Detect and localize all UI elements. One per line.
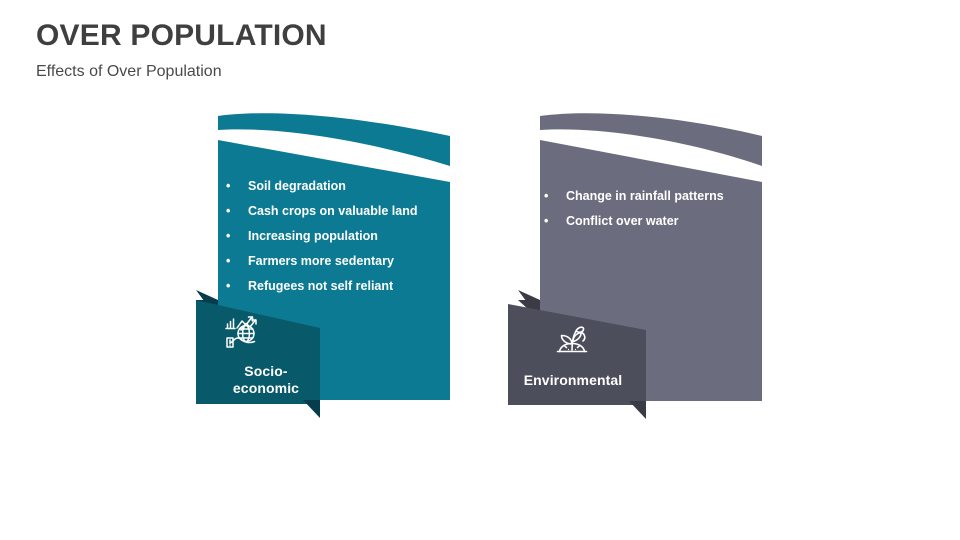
bullet-text: Refugees not self reliant <box>248 279 393 293</box>
bullet-list-socio-economic: •Soil degradation •Cash crops on valuabl… <box>220 174 418 299</box>
bullet-text: Change in rainfall patterns <box>566 189 724 203</box>
list-item: •Soil degradation <box>220 174 418 199</box>
ribbon-label-line: economic <box>196 380 336 397</box>
bullet-glyph: • <box>226 199 230 224</box>
bullet-glyph: • <box>544 209 548 234</box>
list-item: •Refugees not self reliant <box>220 274 418 299</box>
bullet-text: Conflict over water <box>566 214 679 228</box>
slide-canvas: OVER POPULATION Effects of Over Populati… <box>0 0 960 540</box>
card-socio-economic[interactable]: •Soil degradation •Cash crops on valuabl… <box>196 110 458 430</box>
page-title: OVER POPULATION <box>36 18 327 54</box>
bullet-glyph: • <box>226 249 230 274</box>
ribbon-environmental[interactable]: Environmental <box>508 300 656 420</box>
list-item: •Farmers more sedentary <box>220 249 418 274</box>
bullet-glyph: • <box>226 274 230 299</box>
bullet-list-environmental: •Change in rainfall patterns •Conflict o… <box>538 184 724 234</box>
page-subtitle: Effects of Over Population <box>36 62 222 83</box>
bullet-text: Cash crops on valuable land <box>248 204 418 218</box>
card-environmental[interactable]: •Change in rainfall patterns •Conflict o… <box>508 110 770 430</box>
bullet-text: Increasing population <box>248 229 378 243</box>
bullet-glyph: • <box>226 174 230 199</box>
bullet-glyph: • <box>544 184 548 209</box>
bullet-text: Farmers more sedentary <box>248 254 394 268</box>
globe-growth-hand-icon <box>224 314 264 354</box>
bullet-glyph: • <box>226 224 230 249</box>
ribbon-label-socio-economic: Socio- economic <box>196 363 336 397</box>
ribbon-socio-economic-shape <box>196 300 344 420</box>
list-item: •Conflict over water <box>538 209 724 234</box>
ribbon-label-line: Environmental <box>504 372 642 389</box>
bullet-text: Soil degradation <box>248 179 346 193</box>
list-item: •Cash crops on valuable land <box>220 199 418 224</box>
ribbon-label-environmental: Environmental <box>504 372 642 389</box>
ribbon-label-line: Socio- <box>196 363 336 380</box>
list-item: •Increasing population <box>220 224 418 249</box>
ribbon-socio-economic[interactable]: Socio- economic <box>196 300 336 420</box>
plant-sprout-soil-icon <box>552 320 592 360</box>
list-item: •Change in rainfall patterns <box>538 184 724 209</box>
